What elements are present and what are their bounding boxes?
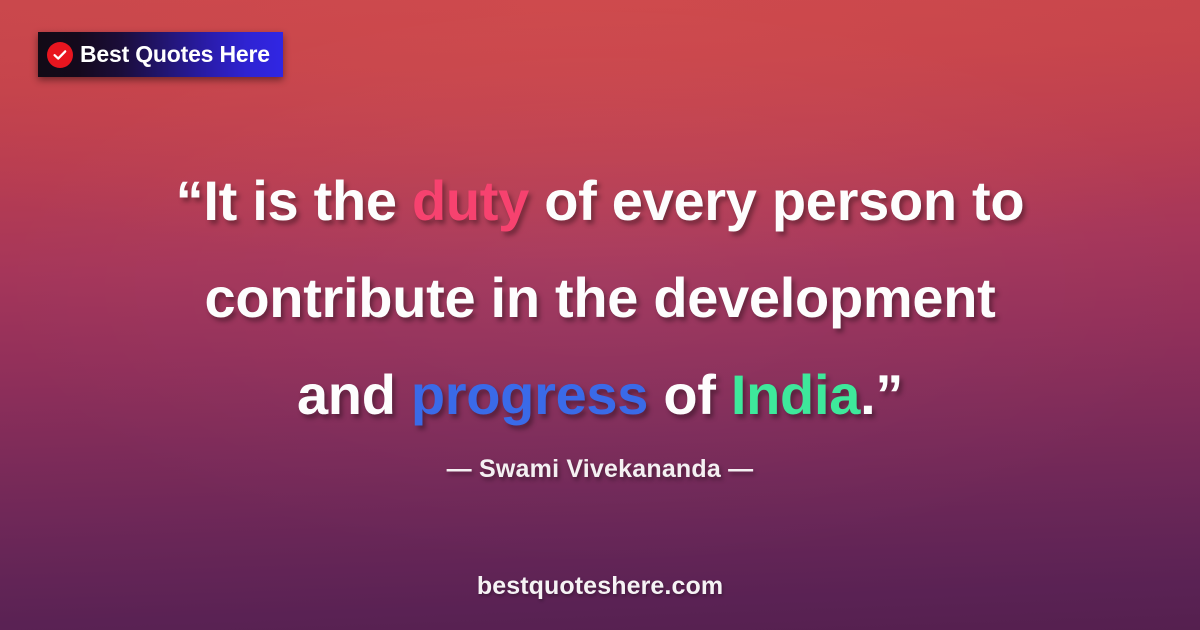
quote-line-1-text-b: of every person to	[529, 169, 1024, 232]
quote-line-1-text-a: “It is the	[176, 169, 412, 232]
quote-block: “It is the duty of every person to contr…	[0, 152, 1200, 443]
site-url: bestquoteshere.com	[0, 572, 1200, 601]
quote-poster: Best Quotes Here “It is the duty of ever…	[0, 0, 1200, 630]
quote-highlight-india: India	[731, 363, 860, 426]
brand-badge[interactable]: Best Quotes Here	[38, 32, 283, 77]
quote-line-3: and progress of India.”	[70, 346, 1130, 443]
verified-check-icon	[47, 42, 73, 68]
quote-line-2-text: contribute in the development	[205, 266, 996, 329]
brand-badge-label: Best Quotes Here	[80, 43, 270, 66]
quote-highlight-duty: duty	[412, 169, 529, 232]
quote-line-1: “It is the duty of every person to	[70, 152, 1130, 249]
quote-line-3-text-a: and	[297, 363, 411, 426]
quote-line-3-text-c: .”	[860, 363, 903, 426]
quote-highlight-progress: progress	[411, 363, 648, 426]
quote-line-3-text-b: of	[648, 363, 731, 426]
quote-line-2: contribute in the development	[70, 249, 1130, 346]
quote-attribution: — Swami Vivekananda —	[0, 455, 1200, 484]
